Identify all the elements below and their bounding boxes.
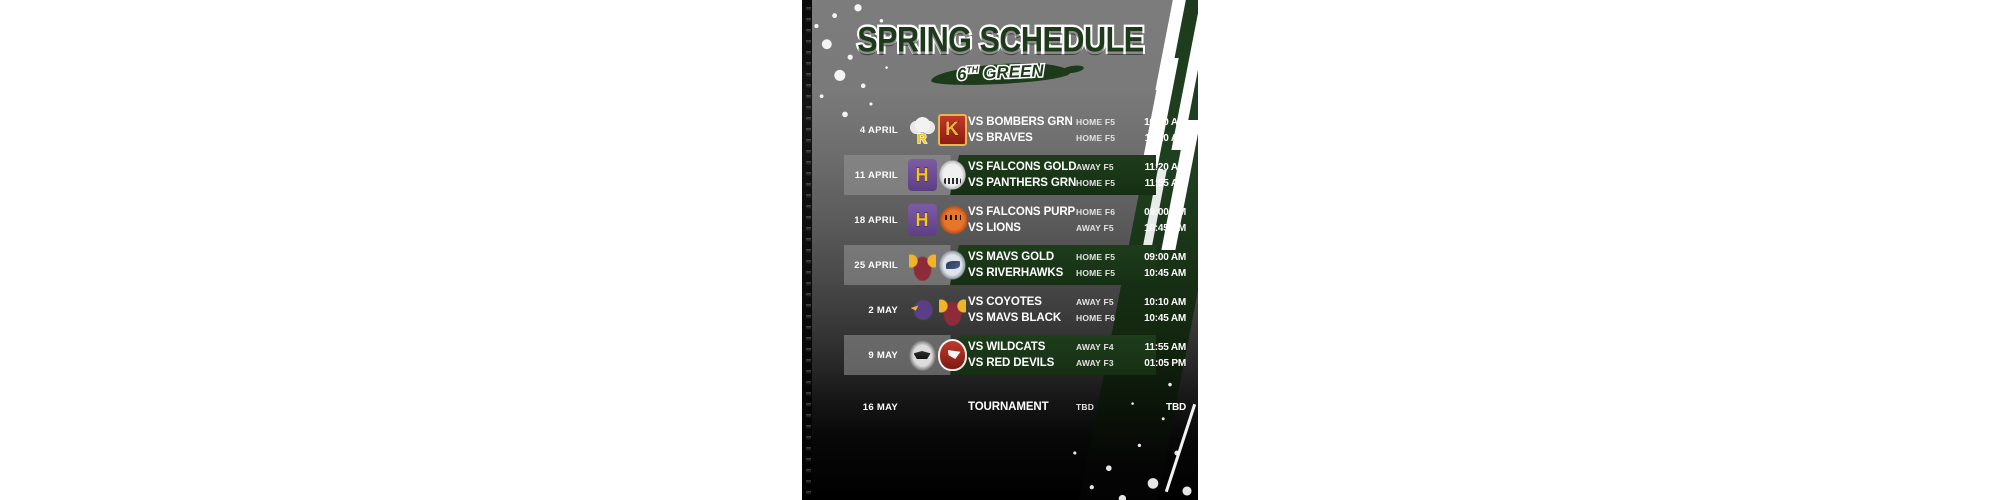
game-row: VS BRAVES HOME F5 11:20 AM <box>968 130 1198 146</box>
game-row: VS WILDCATS AWAY F4 11:55 AM <box>968 339 1198 355</box>
game-opponent: VS COYOTES <box>968 296 1076 308</box>
schedule-block: 2 MAY VS COYOTES AWAY F5 10:10 AM VS MAV… <box>802 292 1198 328</box>
team-logos <box>906 247 968 283</box>
riverhawks-icon <box>938 249 967 281</box>
game-venue: AWAY F4 <box>1076 342 1130 352</box>
game-time: 09:00 AM <box>1130 252 1186 263</box>
team-logos <box>906 337 968 373</box>
game-row: VS MAVS GOLD HOME F5 09:00 AM <box>968 249 1198 265</box>
game-venue: HOME F5 <box>1076 268 1130 278</box>
wildcats-icon <box>908 339 937 371</box>
game-venue: AWAY F5 <box>1076 297 1130 307</box>
team-logos <box>906 112 968 148</box>
schedule-block: 9 MAY VS WILDCATS AWAY F4 11:55 AM VS RE… <box>802 337 1198 373</box>
game-time: 10:45 AM <box>1130 268 1186 279</box>
block-date: 4 APRIL <box>802 125 906 136</box>
block-games: VS WILDCATS AWAY F4 11:55 AM VS RED DEVI… <box>968 339 1198 371</box>
game-time: 10:10 AM <box>1130 297 1186 308</box>
block-games: VS FALCONS GOLD AWAY F5 11:20 AM VS PANT… <box>968 159 1198 191</box>
game-time: 10:45 AM <box>1130 313 1186 324</box>
game-opponent: VS WILDCATS <box>968 341 1076 353</box>
block-games: VS MAVS GOLD HOME F5 09:00 AM VS RIVERHA… <box>968 249 1198 281</box>
schedule-block: 11 APRIL VS FALCONS GOLD AWAY F5 11:20 A… <box>802 157 1198 193</box>
spring-schedule-poster: SPRING SCHEDULE 6TH GREEN 4 APRIL VS BOM… <box>802 0 1198 500</box>
game-opponent: VS FALCONS PURP <box>968 206 1076 218</box>
game-row: TOURNAMENT TBD TBD <box>968 399 1198 415</box>
game-time: 11:20 AM <box>1130 162 1186 173</box>
falcons-h-icon <box>908 159 937 191</box>
game-venue: HOME F5 <box>1076 178 1130 188</box>
block-games: VS FALCONS PURP HOME F6 09:00 AM VS LION… <box>968 204 1198 236</box>
game-venue: HOME F6 <box>1076 207 1130 217</box>
empty-logo-slot <box>923 391 952 423</box>
tournament-label: TOURNAMENT <box>968 401 1076 413</box>
game-row: VS PANTHERS GRN HOME F5 11:55 AM <box>968 175 1198 191</box>
block-date: 18 APRIL <box>802 215 906 226</box>
mavs-bull-icon <box>938 294 967 326</box>
red-devils-icon <box>938 339 967 371</box>
game-opponent: VS FALCONS GOLD <box>968 161 1076 173</box>
game-venue: HOME F5 <box>1076 252 1130 262</box>
braves-k-icon <box>938 114 967 146</box>
team-logos <box>906 202 968 238</box>
game-row: VS FALCONS GOLD AWAY F5 11:20 AM <box>968 159 1198 175</box>
game-row: VS BOMBERS GRN HOME F5 10:10 AM <box>968 114 1198 130</box>
schedule-block: 4 APRIL VS BOMBERS GRN HOME F5 10:10 AM … <box>802 112 1198 148</box>
game-row: VS MAVS BLACK HOME F6 10:45 AM <box>968 310 1198 326</box>
block-games: VS COYOTES AWAY F5 10:10 AM VS MAVS BLAC… <box>968 294 1198 326</box>
subtitle-word: GREEN <box>982 61 1043 83</box>
block-date: 25 APRIL <box>802 260 906 271</box>
tournament-date: 16 MAY <box>802 402 906 413</box>
mavs-bull-icon <box>908 249 937 281</box>
game-opponent: VS BRAVES <box>968 132 1076 144</box>
schedule-list: 4 APRIL VS BOMBERS GRN HOME F5 10:10 AM … <box>802 112 1198 434</box>
game-time: 09:00 AM <box>1130 207 1186 218</box>
lions-head-icon <box>938 204 967 236</box>
subtitle-ordinal: TH <box>966 64 978 75</box>
block-date: 11 APRIL <box>802 170 906 181</box>
team-logos <box>906 292 968 328</box>
game-venue: HOME F5 <box>1076 133 1130 143</box>
game-venue: HOME F5 <box>1076 117 1130 127</box>
game-row: VS RIVERHAWKS HOME F5 10:45 AM <box>968 265 1198 281</box>
block-date: 9 MAY <box>802 350 906 361</box>
game-venue: AWAY F5 <box>1076 223 1130 233</box>
game-opponent: VS BOMBERS GRN <box>968 116 1076 128</box>
game-opponent: VS RED DEVILS <box>968 357 1076 369</box>
poster-subtitle-group: 6TH GREEN <box>931 61 1070 87</box>
game-row: VS RED DEVILS AWAY F3 01:05 PM <box>968 355 1198 371</box>
game-time: 10:10 AM <box>1130 117 1186 128</box>
game-opponent: VS PANTHERS GRN <box>968 177 1076 189</box>
game-row: VS LIONS AWAY F5 10:45 AM <box>968 220 1198 236</box>
game-venue: AWAY F3 <box>1076 358 1130 368</box>
game-opponent: VS LIONS <box>968 222 1076 234</box>
falcons-h-icon <box>908 204 937 236</box>
schedule-block: 25 APRIL VS MAVS GOLD HOME F5 09:00 AM V… <box>802 247 1198 283</box>
game-time: 11:55 AM <box>1130 178 1186 189</box>
game-time: 01:05 PM <box>1130 358 1186 369</box>
poster-subtitle: 6TH GREEN <box>956 61 1043 85</box>
bombers-cloud-icon <box>908 114 937 146</box>
tournament-venue: TBD <box>1076 402 1130 412</box>
block-games: VS BOMBERS GRN HOME F5 10:10 AM VS BRAVE… <box>968 114 1198 146</box>
team-logos <box>906 157 968 193</box>
schedule-block: 18 APRIL VS FALCONS PURP HOME F6 09:00 A… <box>802 202 1198 238</box>
game-time: 10:45 AM <box>1130 223 1186 234</box>
game-opponent: VS RIVERHAWKS <box>968 267 1076 279</box>
block-date: 2 MAY <box>802 305 906 316</box>
tournament-time: TBD <box>1130 402 1186 413</box>
game-row: VS FALCONS PURP HOME F6 09:00 AM <box>968 204 1198 220</box>
game-row: VS COYOTES AWAY F5 10:10 AM <box>968 294 1198 310</box>
tournament-row: 16 MAY TOURNAMENT TBD TBD <box>802 389 1198 425</box>
screenshot-stage: SPRING SCHEDULE 6TH GREEN 4 APRIL VS BOM… <box>0 0 2000 500</box>
team-logos <box>906 389 968 425</box>
game-venue: HOME F6 <box>1076 313 1130 323</box>
poster-title-group: SPRING SCHEDULE 6TH GREEN <box>802 26 1198 87</box>
game-opponent: VS MAVS BLACK <box>968 312 1076 324</box>
tournament-detail: TOURNAMENT TBD TBD <box>968 399 1198 415</box>
page-title: SPRING SCHEDULE <box>857 23 1143 58</box>
game-venue: AWAY F5 <box>1076 162 1130 172</box>
game-time: 11:20 AM <box>1130 133 1186 144</box>
panthers-head-icon <box>938 159 967 191</box>
game-opponent: VS MAVS GOLD <box>968 251 1076 263</box>
game-time: 11:55 AM <box>1130 342 1186 353</box>
coyotes-icon <box>908 294 937 326</box>
